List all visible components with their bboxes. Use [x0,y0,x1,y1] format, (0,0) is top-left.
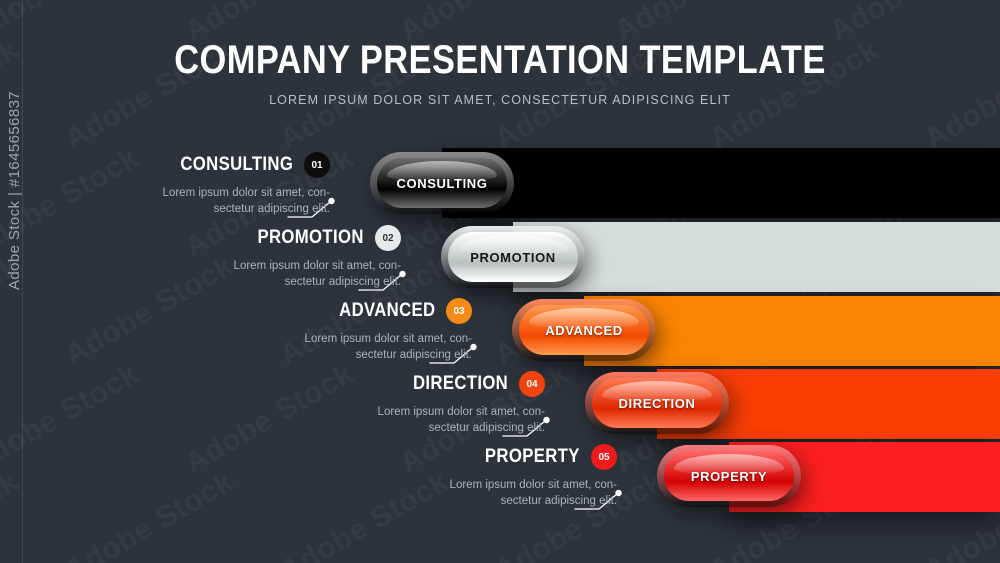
info-block-property: PROPERTY05Lorem ipsum dolor sit amet, co… [0,444,617,509]
info-title: ADVANCED [339,300,435,322]
pill-button-promotion[interactable]: PROMOTION [441,226,585,288]
info-block-promotion: PROMOTION02Lorem ipsum dolor sit amet, c… [0,225,401,290]
info-description: Lorem ipsum dolor sit amet, con- sectetu… [0,331,472,363]
info-heading-row: PROPERTY05 [0,444,617,470]
pill-body: ADVANCED [519,305,649,355]
pill-button-property[interactable]: PROPERTY [657,445,801,507]
header: COMPANY PRESENTATION TEMPLATE LOREM IPSU… [0,38,1000,107]
category-bar-promotion [513,222,1000,292]
pill-button-consulting[interactable]: CONSULTING [370,152,514,214]
pill-button-direction[interactable]: DIRECTION [585,372,729,434]
pill-body: PROMOTION [448,232,578,282]
info-block-advanced: ADVANCED03Lorem ipsum dolor sit amet, co… [0,298,472,363]
info-description: Lorem ipsum dolor sit amet, con- sectetu… [0,404,545,436]
info-title: CONSULTING [180,154,293,176]
slide-canvas: Adobe StockAdobe StockAdobe StockAdobe S… [0,0,1000,563]
info-title: PROPERTY [485,446,580,468]
pill-button-advanced[interactable]: ADVANCED [512,299,656,361]
pill-body: DIRECTION [592,378,722,428]
pill-body: PROPERTY [664,451,794,501]
pill-label: PROMOTION [470,250,556,265]
info-heading-row: DIRECTION04 [0,371,545,397]
page-title: COMPANY PRESENTATION TEMPLATE [70,38,930,82]
pill-label: ADVANCED [545,323,623,338]
info-description: Lorem ipsum dolor sit amet, con- sectetu… [0,185,330,217]
page-subtitle: LOREM IPSUM DOLOR SIT AMET, CONSECTETUR … [0,93,1000,107]
pill-label: PROPERTY [691,469,767,484]
pill-label: CONSULTING [397,176,488,191]
info-heading-row: CONSULTING01 [0,152,330,178]
info-description: Lorem ipsum dolor sit amet, con- sectetu… [0,258,401,290]
category-bar-consulting [442,148,1000,218]
step-number-badge: 02 [375,225,401,251]
info-title: PROMOTION [258,227,364,249]
pill-label: DIRECTION [619,396,696,411]
info-description: Lorem ipsum dolor sit amet, con- sectetu… [0,477,617,509]
info-heading-row: ADVANCED03 [0,298,472,324]
info-title: DIRECTION [413,373,508,395]
step-number-badge: 01 [304,152,330,178]
info-heading-row: PROMOTION02 [0,225,401,251]
step-number-badge: 03 [446,298,472,324]
step-number-badge: 04 [519,371,545,397]
stock-id-watermark: Adobe Stock | #1645656837 [6,91,23,290]
info-block-direction: DIRECTION04Lorem ipsum dolor sit amet, c… [0,371,545,436]
info-block-consulting: CONSULTING01Lorem ipsum dolor sit amet, … [0,152,330,217]
step-number-badge: 05 [591,444,617,470]
pill-body: CONSULTING [377,158,507,208]
